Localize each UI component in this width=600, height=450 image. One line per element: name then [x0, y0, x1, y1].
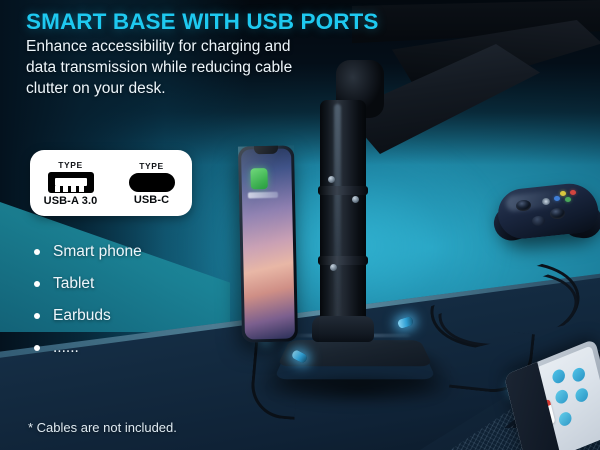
list-item: ...... — [34, 332, 142, 364]
usb-a-port-icon — [48, 172, 94, 193]
bullet-dot-icon — [34, 281, 40, 287]
description-line-3: clutter on your desk. — [26, 78, 356, 99]
usb-c-port-icon — [129, 173, 175, 192]
usb-c-type-label: TYPE — [139, 161, 164, 171]
usb-a-type-label: TYPE — [58, 160, 83, 170]
list-item: Earbuds — [34, 300, 142, 332]
product-banner: 24 SMART BASE WITH USB PORTS Enhance acc… — [0, 0, 600, 450]
description-line-1: Enhance accessibility for charging and — [26, 36, 356, 57]
list-item: Smart phone — [34, 236, 142, 268]
disclaimer-text: * Cables are not included. — [28, 420, 177, 435]
compatible-devices-list: Smart phone Tablet Earbuds ...... — [34, 236, 142, 364]
usb-a-name-label: USB-A 3.0 — [44, 195, 98, 207]
list-item: Tablet — [34, 268, 142, 300]
list-item-label: Smart phone — [53, 243, 142, 261]
usb-a-port-group: TYPE USB-A 3.0 — [30, 150, 111, 216]
usb-c-port-group: TYPE USB-C — [111, 150, 192, 216]
description-line-2: data transmission while reducing cable — [26, 57, 356, 78]
usb-ports-badge: TYPE USB-A 3.0 TYPE USB-C — [30, 150, 192, 216]
page-title: SMART BASE WITH USB PORTS — [26, 9, 379, 35]
usb-c-name-label: USB-C — [134, 194, 169, 206]
description-text: Enhance accessibility for charging and d… — [26, 36, 356, 99]
list-item-label: ...... — [53, 339, 79, 357]
bullet-dot-icon — [34, 249, 40, 255]
marketing-copy: SMART BASE WITH USB PORTS Enhance access… — [0, 0, 600, 450]
list-item-label: Earbuds — [53, 307, 111, 325]
list-item-label: Tablet — [53, 275, 94, 293]
bullet-dot-icon — [34, 313, 40, 319]
bullet-dot-icon — [34, 345, 40, 351]
